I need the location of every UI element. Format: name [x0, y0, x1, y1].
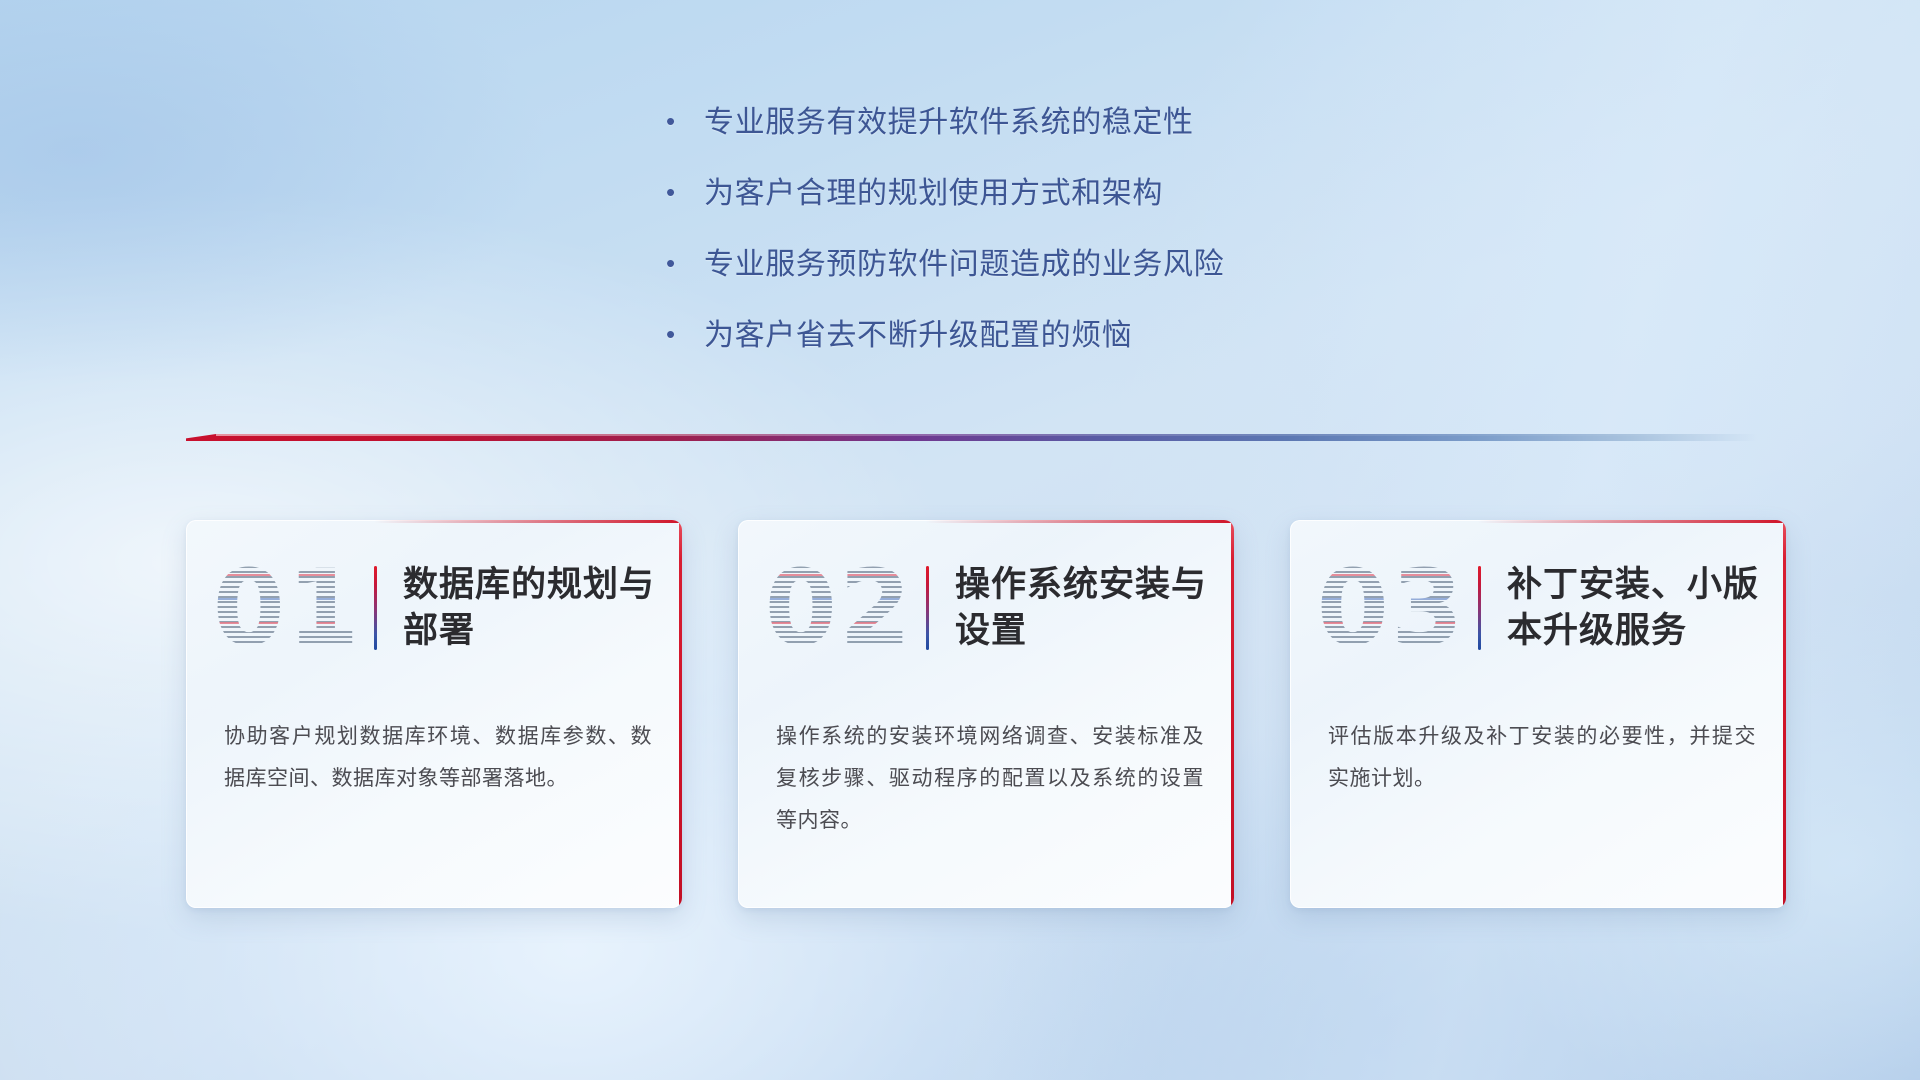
bullet-dot-icon: • — [660, 105, 704, 138]
list-item: • 为客户省去不断升级配置的烦恼 — [660, 318, 1560, 354]
card-header: 03 补丁安装、小版本升级服务 — [1290, 520, 1786, 696]
card-title: 补丁安装、小版本升级服务 — [1481, 562, 1786, 654]
list-item: • 专业服务有效提升软件系统的稳定性 — [660, 105, 1560, 141]
service-card[interactable]: 02 操作系统安装与设置 操作系统的安装环境网络调查、安装标准及复核步骤、驱动程… — [738, 520, 1234, 908]
card-description: 评估版本升级及补丁安装的必要性，并提交实施计划。 — [1328, 716, 1756, 800]
card-title: 操作系统安装与设置 — [929, 562, 1234, 654]
section-divider — [186, 432, 1758, 444]
bullet-dot-icon: • — [660, 247, 704, 280]
bullet-text: 为客户省去不断升级配置的烦恼 — [704, 318, 1560, 354]
bullet-text: 专业服务预防软件问题造成的业务风险 — [704, 247, 1560, 283]
bullet-dot-icon: • — [660, 318, 704, 351]
card-number-wrap: 03 — [1290, 556, 1478, 660]
bullet-text: 为客户合理的规划使用方式和架构 — [704, 176, 1560, 212]
card-description: 操作系统的安装环境网络调查、安装标准及复核步骤、驱动程序的配置以及系统的设置等内… — [776, 716, 1204, 842]
card-description: 协助客户规划数据库环境、数据库参数、数据库空间、数据库对象等部署落地。 — [224, 716, 652, 800]
service-card[interactable]: 03 补丁安装、小版本升级服务 评估版本升级及补丁安装的必要性，并提交实施计划。 — [1290, 520, 1786, 908]
list-item: • 专业服务预防软件问题造成的业务风险 — [660, 247, 1560, 283]
service-card[interactable]: 01 数据库的规划与部署 协助客户规划数据库环境、数据库参数、数据库空间、数据库… — [186, 520, 682, 908]
bullet-dot-icon: • — [660, 176, 704, 209]
service-card-list: 01 数据库的规划与部署 协助客户规划数据库环境、数据库参数、数据库空间、数据库… — [186, 520, 1786, 908]
bullet-text: 专业服务有效提升软件系统的稳定性 — [704, 105, 1560, 141]
card-number-wrap: 02 — [738, 556, 926, 660]
divider-highlight — [216, 434, 1758, 436]
list-item: • 为客户合理的规划使用方式和架构 — [660, 176, 1560, 212]
card-number: 03 — [1317, 556, 1466, 660]
card-header: 02 操作系统安装与设置 — [738, 520, 1234, 696]
card-number: 02 — [765, 556, 914, 660]
card-header: 01 数据库的规划与部署 — [186, 520, 682, 696]
benefits-bullet-list: • 专业服务有效提升软件系统的稳定性 • 为客户合理的规划使用方式和架构 • 专… — [660, 105, 1560, 389]
card-number-wrap: 01 — [186, 556, 374, 660]
card-number: 01 — [213, 556, 362, 660]
card-title: 数据库的规划与部署 — [377, 562, 682, 654]
